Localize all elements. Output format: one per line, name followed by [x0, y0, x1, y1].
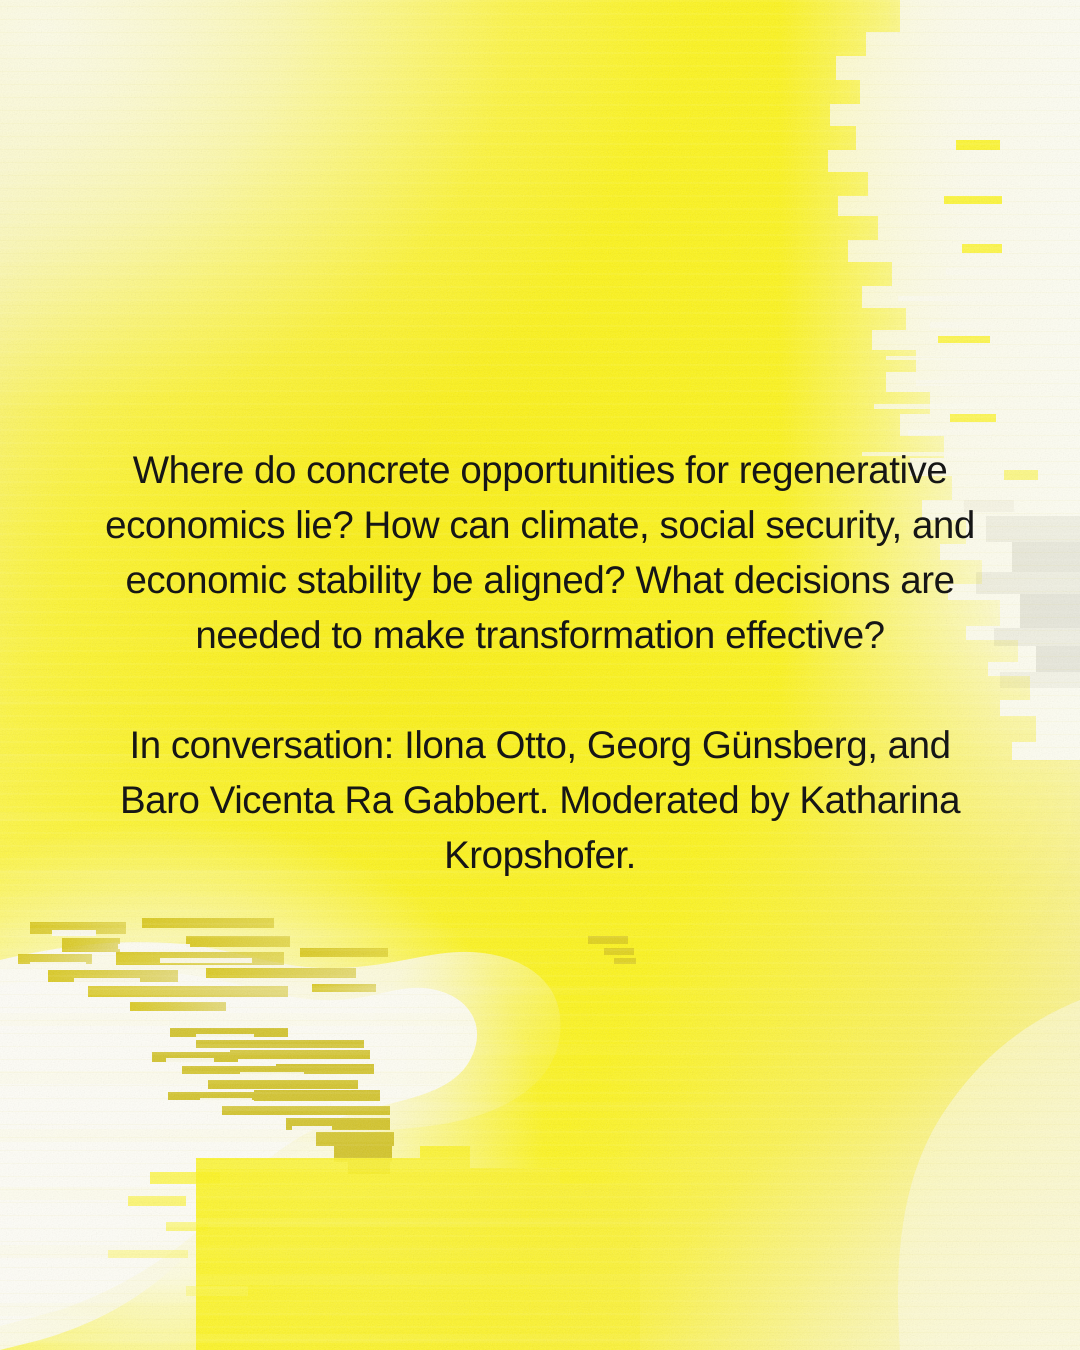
speakers-paragraph: In conversation: Ilona Otto, Georg Günsb… [92, 718, 988, 883]
content-container: Where do concrete opportunities for rege… [0, 0, 1080, 1350]
copy-block: Where do concrete opportunities for rege… [92, 443, 988, 883]
paragraph-spacer [92, 663, 988, 718]
poster-canvas: Where do concrete opportunities for rege… [0, 0, 1080, 1350]
questions-paragraph: Where do concrete opportunities for rege… [92, 443, 988, 663]
